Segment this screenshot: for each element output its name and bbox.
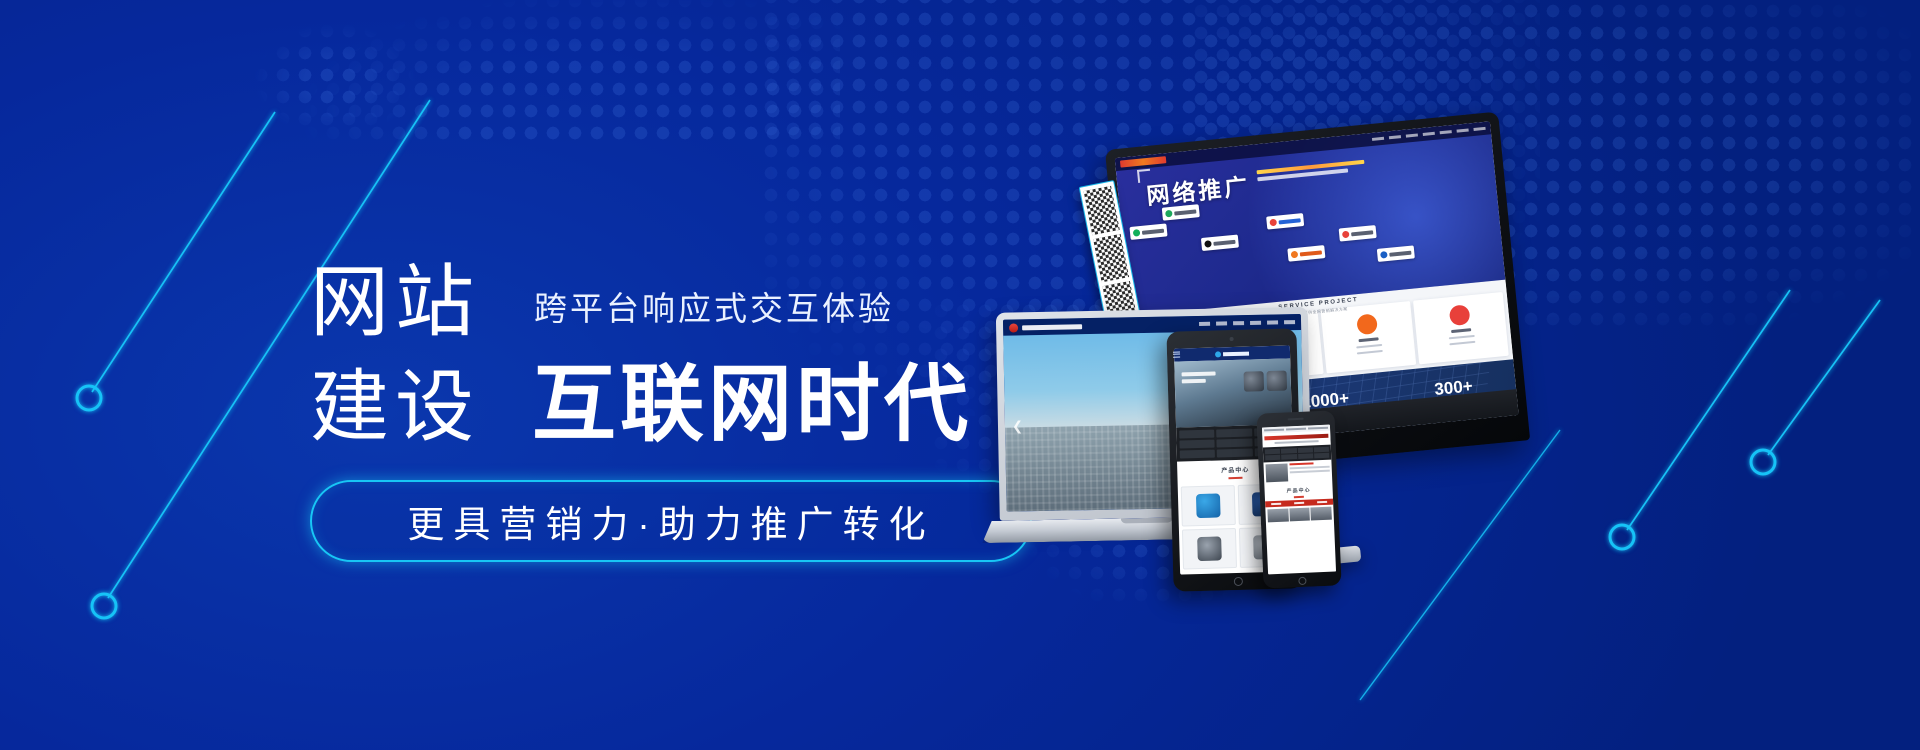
hero-kicker: 网站 xyxy=(310,262,480,341)
tablet-site-logo xyxy=(1215,350,1249,357)
product-card[interactable] xyxy=(1182,528,1237,569)
partner-logo xyxy=(1287,245,1325,262)
nav-item xyxy=(1372,137,1384,141)
news-text-lines xyxy=(1289,462,1330,482)
hero-tagline-text: 更具营销力·助力推广转化 xyxy=(407,494,934,548)
camera-icon xyxy=(1230,337,1234,341)
nav-item[interactable] xyxy=(1297,447,1312,453)
service-card-line xyxy=(1449,335,1475,340)
nav-item xyxy=(1250,321,1261,325)
company-logo-icon xyxy=(1009,323,1018,332)
nav-item xyxy=(1233,321,1244,325)
phone-body: 产品中心 xyxy=(1256,410,1341,588)
service-card-line xyxy=(1449,341,1475,346)
service-card-line xyxy=(1357,350,1383,355)
partner-logo xyxy=(1266,213,1304,230)
device-mockup-cluster: 芬瑞特 ❮ xyxy=(1075,130,1555,660)
qr-code-icon xyxy=(1084,186,1120,235)
nav-item xyxy=(1440,130,1452,134)
service-card-title xyxy=(1451,328,1471,333)
nav-item[interactable] xyxy=(1281,454,1296,460)
nav-item[interactable] xyxy=(1281,448,1296,454)
home-button-icon[interactable] xyxy=(1234,577,1243,586)
product-image xyxy=(1196,493,1221,518)
product-thumb xyxy=(1267,371,1288,392)
site-nav-items xyxy=(1372,127,1486,141)
nav-tile[interactable] xyxy=(1216,429,1252,438)
heading-underline xyxy=(1228,477,1242,479)
nav-item[interactable] xyxy=(1298,453,1313,459)
hero-headline-accent: 互联网时代 xyxy=(532,362,972,446)
nav-item[interactable] xyxy=(1314,453,1329,459)
gallery-thumb[interactable] xyxy=(1267,508,1288,522)
partner-logo xyxy=(1377,245,1415,262)
partner-logo xyxy=(1339,225,1377,242)
partner-logo xyxy=(1201,234,1239,251)
nav-item xyxy=(1284,320,1295,324)
product-thumb xyxy=(1244,371,1265,392)
partner-logo xyxy=(1162,204,1200,221)
nav-tile[interactable] xyxy=(1217,449,1253,458)
hero-text-placeholder xyxy=(1182,372,1216,387)
nav-item xyxy=(1406,133,1418,137)
dot-map-pattern xyxy=(300,0,840,140)
product-image xyxy=(1197,536,1222,561)
nav-tile[interactable] xyxy=(1217,439,1253,448)
phone-screen: 产品中心 xyxy=(1262,425,1336,575)
carousel-prev-icon[interactable]: ❮ xyxy=(1012,420,1023,433)
service-card-title xyxy=(1359,337,1379,342)
qr-code-icon xyxy=(1093,233,1129,282)
hero-subtitle: 跨平台响应式交互体验 xyxy=(534,282,894,341)
nav-item[interactable] xyxy=(1265,455,1280,461)
hero-product-thumbs xyxy=(1244,371,1288,392)
logo-sub-placeholder xyxy=(1274,440,1319,444)
home-button-icon[interactable] xyxy=(1298,577,1306,585)
hero-copy: 网站 跨平台响应式交互体验 建设 互联网时代 更具营销力·助力推广转化 xyxy=(310,262,1070,562)
service-icon xyxy=(1356,313,1378,335)
hamburger-menu-icon[interactable] xyxy=(1174,351,1180,359)
nav-item xyxy=(1473,127,1485,131)
phone-gallery-grid xyxy=(1265,504,1334,524)
gallery-thumb[interactable] xyxy=(1289,507,1310,521)
nav-item xyxy=(1267,320,1278,324)
headline-row-top: 网站 跨平台响应式交互体验 xyxy=(310,262,1070,341)
nav-tile[interactable] xyxy=(1179,440,1215,449)
heading-underline xyxy=(1294,496,1304,498)
logo-text-placeholder xyxy=(1223,351,1249,356)
site-hero-subtext xyxy=(1257,160,1366,184)
phone-mockup: 产品中心 xyxy=(1256,410,1341,588)
site-logo-icon xyxy=(1120,156,1166,167)
partner-logo xyxy=(1129,223,1167,240)
headline-row-bottom: 建设 互联网时代 xyxy=(310,362,1070,446)
hero-banner: 网站 跨平台响应式交互体验 建设 互联网时代 更具营销力·助力推广转化 xyxy=(0,0,1920,750)
nav-item[interactable] xyxy=(1265,449,1280,455)
gallery-thumb[interactable] xyxy=(1311,506,1332,520)
service-card-line xyxy=(1356,344,1382,349)
logo-mark-icon xyxy=(1215,351,1221,357)
site-navbar xyxy=(1115,121,1491,171)
product-card[interactable] xyxy=(1181,485,1236,526)
nav-tile[interactable] xyxy=(1179,430,1215,439)
hero-tagline-pill[interactable]: 更具营销力·助力推广转化 xyxy=(310,480,1032,562)
laptop-notch xyxy=(1120,517,1173,523)
company-name-placeholder xyxy=(1022,324,1082,330)
nav-item xyxy=(1199,322,1210,326)
nav-tile[interactable] xyxy=(1180,450,1216,459)
dot-map-pattern xyxy=(250,20,420,140)
nav-item xyxy=(1389,135,1401,139)
nav-item[interactable] xyxy=(1314,447,1329,453)
speaker-icon xyxy=(1288,418,1304,421)
service-icon xyxy=(1449,304,1471,326)
nav-item xyxy=(1423,132,1435,136)
hero-headline: 建设 xyxy=(310,367,480,446)
nav-item xyxy=(1457,128,1469,132)
news-thumbnail xyxy=(1265,463,1288,482)
phone-news-block[interactable] xyxy=(1263,460,1332,485)
nav-item xyxy=(1216,321,1227,325)
laptop-nav-items xyxy=(1199,320,1295,326)
